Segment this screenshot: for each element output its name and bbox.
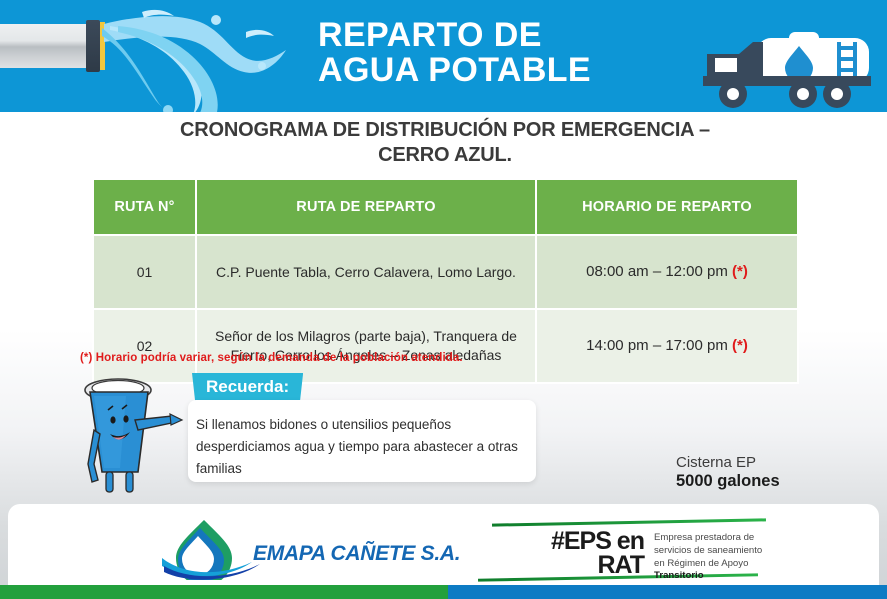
water-tanker-truck-icon bbox=[699, 28, 879, 112]
time-range: 08:00 am – 12:00 pm bbox=[586, 263, 728, 280]
recuerda-tab-label: Recuerda: bbox=[192, 373, 303, 403]
banner-title-line1: REPARTO DE bbox=[318, 18, 718, 53]
asterisk-marker: (*) bbox=[732, 337, 748, 354]
cell-route-number: 01 bbox=[93, 235, 196, 309]
water-bucket-mascot-icon bbox=[72, 376, 184, 494]
water-splash-icon bbox=[96, 6, 296, 112]
rat-tagline-line1: #EPS en bbox=[484, 529, 644, 553]
cell-route-description: Señor de los Milagros (parte baja), Tran… bbox=[196, 309, 536, 383]
cell-route-time: 14:00 pm – 17:00 pm (*) bbox=[536, 309, 798, 383]
subtitle: CRONOGRAMA DE DISTRIBUCIÓN POR EMERGENCI… bbox=[120, 118, 770, 168]
cell-route-description: C.P. Puente Tabla, Cerro Calavera, Lomo … bbox=[196, 235, 536, 309]
eps-rat-logo: #EPS en RAT Empresa prestadora de servic… bbox=[478, 521, 778, 579]
rat-description: Empresa prestadora de servicios de sanea… bbox=[654, 532, 778, 583]
column-header-ruta-reparto: RUTA DE REPARTO bbox=[196, 179, 536, 235]
rat-tagline: #EPS en RAT bbox=[484, 529, 644, 577]
pipe-body bbox=[0, 24, 90, 68]
water-drop-wave-logo-icon bbox=[160, 518, 268, 580]
rat-tagline-line2: RAT bbox=[484, 553, 644, 577]
poster-root: REPARTO DE AGUA POTABLE CRONOGRAMA DE DI… bbox=[0, 0, 887, 599]
cell-route-time: 08:00 am – 12:00 pm (*) bbox=[536, 235, 798, 309]
bottom-bar-blue bbox=[448, 585, 887, 599]
column-header-ruta-num: RUTA N° bbox=[93, 179, 196, 235]
table-header-row: RUTA N° RUTA DE REPARTO HORARIO DE REPAR… bbox=[93, 179, 798, 235]
water-pipe-icon bbox=[0, 24, 106, 68]
rat-desc-line1: Empresa prestadora de bbox=[654, 532, 778, 545]
rat-desc-line2: servicios de saneamiento bbox=[654, 545, 778, 558]
page-title: REPARTO DE AGUA POTABLE bbox=[318, 18, 718, 87]
column-header-horario: HORARIO DE REPARTO bbox=[536, 179, 798, 235]
cisterna-label: Cisterna EP bbox=[676, 455, 780, 472]
rat-desc-line3: en Régimen de Apoyo bbox=[654, 558, 778, 571]
banner-title-line2: AGUA POTABLE bbox=[318, 53, 718, 88]
cisterna-capacity: 5000 galones bbox=[676, 472, 780, 490]
table-row: 01 C.P. Puente Tabla, Cerro Calavera, Lo… bbox=[93, 235, 798, 309]
bottom-color-bar bbox=[0, 585, 887, 599]
schedule-footnote: (*) Horario podría variar, según la dema… bbox=[80, 352, 463, 364]
recuerda-body-text: Si llenamos bidones o utensilios pequeño… bbox=[196, 414, 526, 480]
subtitle-line2: CERRO AZUL. bbox=[120, 143, 770, 168]
table-row: 02 Señor de los Milagros (parte baja), T… bbox=[93, 309, 798, 383]
cell-route-number: 02 bbox=[93, 309, 196, 383]
header-banner: REPARTO DE AGUA POTABLE bbox=[0, 0, 887, 112]
asterisk-marker: (*) bbox=[732, 263, 748, 280]
subtitle-line1: CRONOGRAMA DE DISTRIBUCIÓN POR EMERGENCI… bbox=[120, 118, 770, 143]
emapa-company-name: EMAPA CAÑETE S.A. bbox=[253, 542, 460, 566]
cisterna-label-block: Cisterna EP 5000 galones bbox=[676, 455, 780, 491]
time-range: 14:00 pm – 17:00 pm bbox=[586, 337, 728, 354]
rat-desc-line4: Transitorio bbox=[654, 570, 704, 581]
bottom-bar-green bbox=[0, 585, 448, 599]
